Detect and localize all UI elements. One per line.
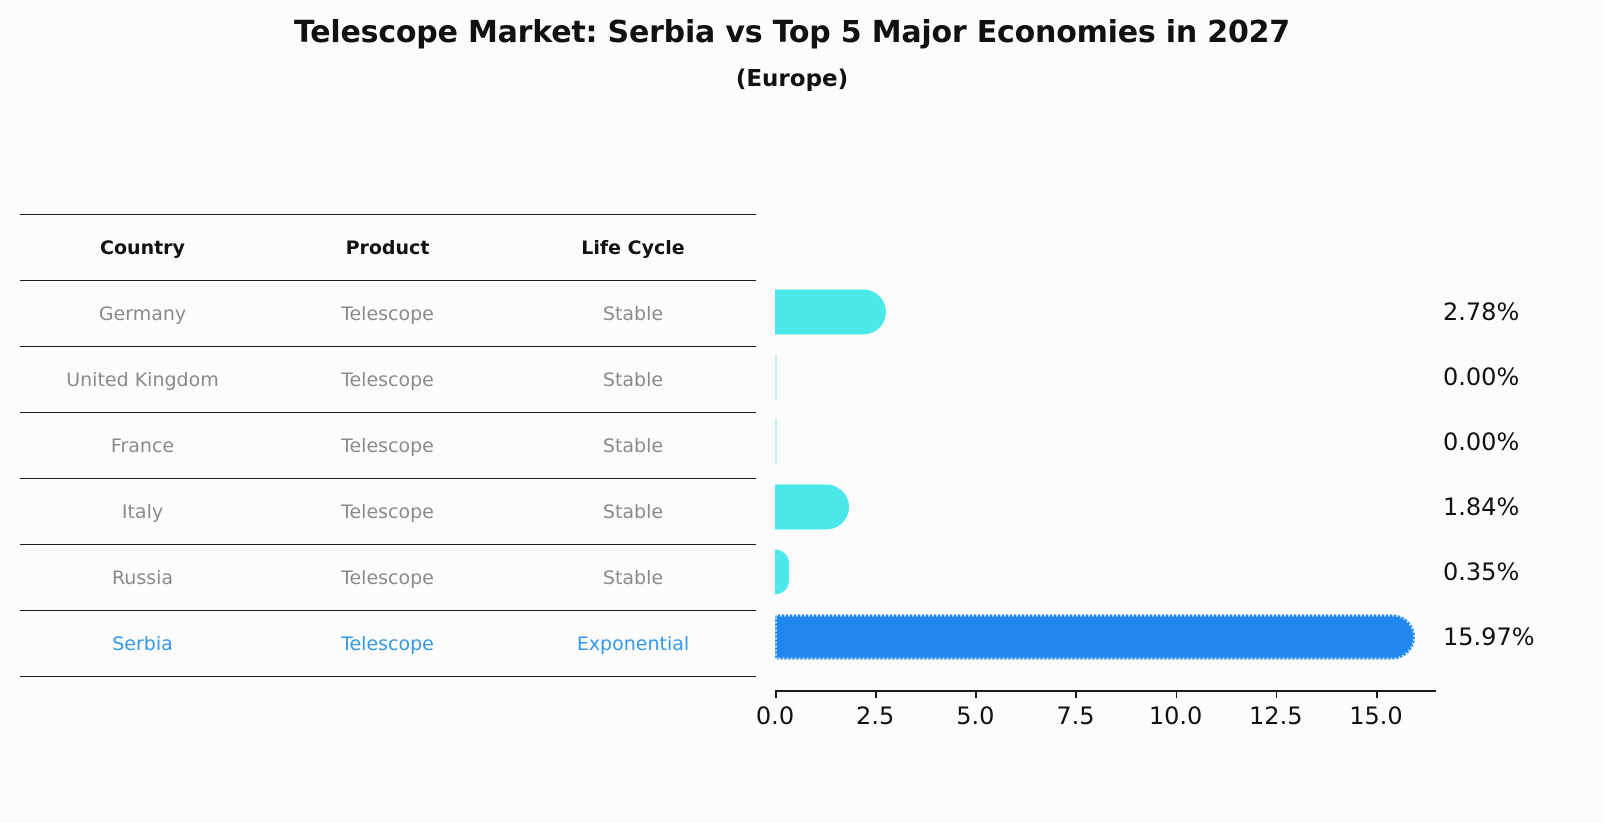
cell-product: Telescope	[265, 479, 510, 545]
bar-row: 0.00%	[775, 344, 1436, 409]
x-axis-tick	[1075, 690, 1077, 698]
table-row: Russia Telescope Stable	[20, 545, 756, 611]
bar-france	[775, 419, 777, 464]
bar-italy	[775, 484, 849, 529]
cell-life-cycle: Exponential	[510, 611, 756, 677]
x-axis-tick-label: 2.5	[856, 702, 894, 730]
x-axis-line	[775, 690, 1436, 692]
cell-country: France	[20, 413, 265, 479]
cell-life-cycle: Stable	[510, 413, 756, 479]
x-axis-tick	[1176, 690, 1178, 698]
table-header-row: Country Product Life Cycle	[20, 215, 756, 281]
table-row: United Kingdom Telescope Stable	[20, 347, 756, 413]
data-table-panel: Country Product Life Cycle Germany Teles…	[20, 214, 756, 677]
x-axis-tick-label: 5.0	[956, 702, 994, 730]
cell-life-cycle: Stable	[510, 347, 756, 413]
bar-row: 1.84%	[775, 474, 1436, 539]
x-axis-tick	[975, 690, 977, 698]
bar-row: 2.78%	[775, 279, 1436, 344]
cell-life-cycle: Stable	[510, 545, 756, 611]
bar-russia	[775, 549, 789, 594]
cell-product: Telescope	[265, 347, 510, 413]
x-axis-tick-label: 12.5	[1249, 702, 1302, 730]
x-axis-tick	[1376, 690, 1378, 698]
table-row: France Telescope Stable	[20, 413, 756, 479]
bar-united-kingdom	[775, 354, 777, 399]
bar-value-germany: 2.78%	[1443, 298, 1519, 326]
bar-chart-panel: 2.78% 0.00% 0.00% 1.84% 0.35% 15.97%	[775, 214, 1436, 690]
cell-country: United Kingdom	[20, 347, 265, 413]
cell-country: Serbia	[20, 611, 265, 677]
title-block: Telescope Market: Serbia vs Top 5 Major …	[0, 14, 1584, 92]
table-row: Germany Telescope Stable	[20, 281, 756, 347]
table-row: Italy Telescope Stable	[20, 479, 756, 545]
x-axis: 0.02.55.07.510.012.515.0	[775, 690, 1436, 730]
bar-germany	[775, 289, 886, 334]
x-axis-tick	[1276, 690, 1278, 698]
page-subtitle: (Europe)	[0, 66, 1584, 92]
bar-row: 0.35%	[775, 539, 1436, 604]
column-header-country: Country	[20, 215, 265, 281]
country-data-table: Country Product Life Cycle Germany Teles…	[20, 214, 756, 677]
page-title: Telescope Market: Serbia vs Top 5 Major …	[0, 14, 1584, 52]
bar-row: 0.00%	[775, 409, 1436, 474]
x-axis-tick-label: 7.5	[1056, 702, 1094, 730]
cell-product: Telescope	[265, 413, 510, 479]
cell-product: Telescope	[265, 611, 510, 677]
bar-header-spacer	[775, 214, 1436, 279]
cell-life-cycle: Stable	[510, 281, 756, 347]
bar-value-russia: 0.35%	[1443, 558, 1519, 586]
x-axis-tick-label: 0.0	[756, 702, 794, 730]
x-axis-tick-label: 15.0	[1349, 702, 1402, 730]
column-header-life-cycle: Life Cycle	[510, 215, 756, 281]
bar-value-france: 0.00%	[1443, 428, 1519, 456]
table-body: Germany Telescope Stable United Kingdom …	[20, 281, 756, 677]
bar-value-united-kingdom: 0.00%	[1443, 363, 1519, 391]
cell-country: Germany	[20, 281, 265, 347]
cell-country: Russia	[20, 545, 265, 611]
cell-product: Telescope	[265, 545, 510, 611]
x-axis-tick	[875, 690, 877, 698]
bar-serbia	[775, 614, 1415, 659]
x-axis-tick	[775, 690, 777, 698]
bar-value-italy: 1.84%	[1443, 493, 1519, 521]
cell-product: Telescope	[265, 281, 510, 347]
cell-country: Italy	[20, 479, 265, 545]
bar-row: 15.97%	[775, 604, 1436, 669]
table-row-highlighted: Serbia Telescope Exponential	[20, 611, 756, 677]
bar-value-serbia: 15.97%	[1443, 623, 1535, 651]
column-header-product: Product	[265, 215, 510, 281]
x-axis-tick-label: 10.0	[1149, 702, 1202, 730]
cell-life-cycle: Stable	[510, 479, 756, 545]
